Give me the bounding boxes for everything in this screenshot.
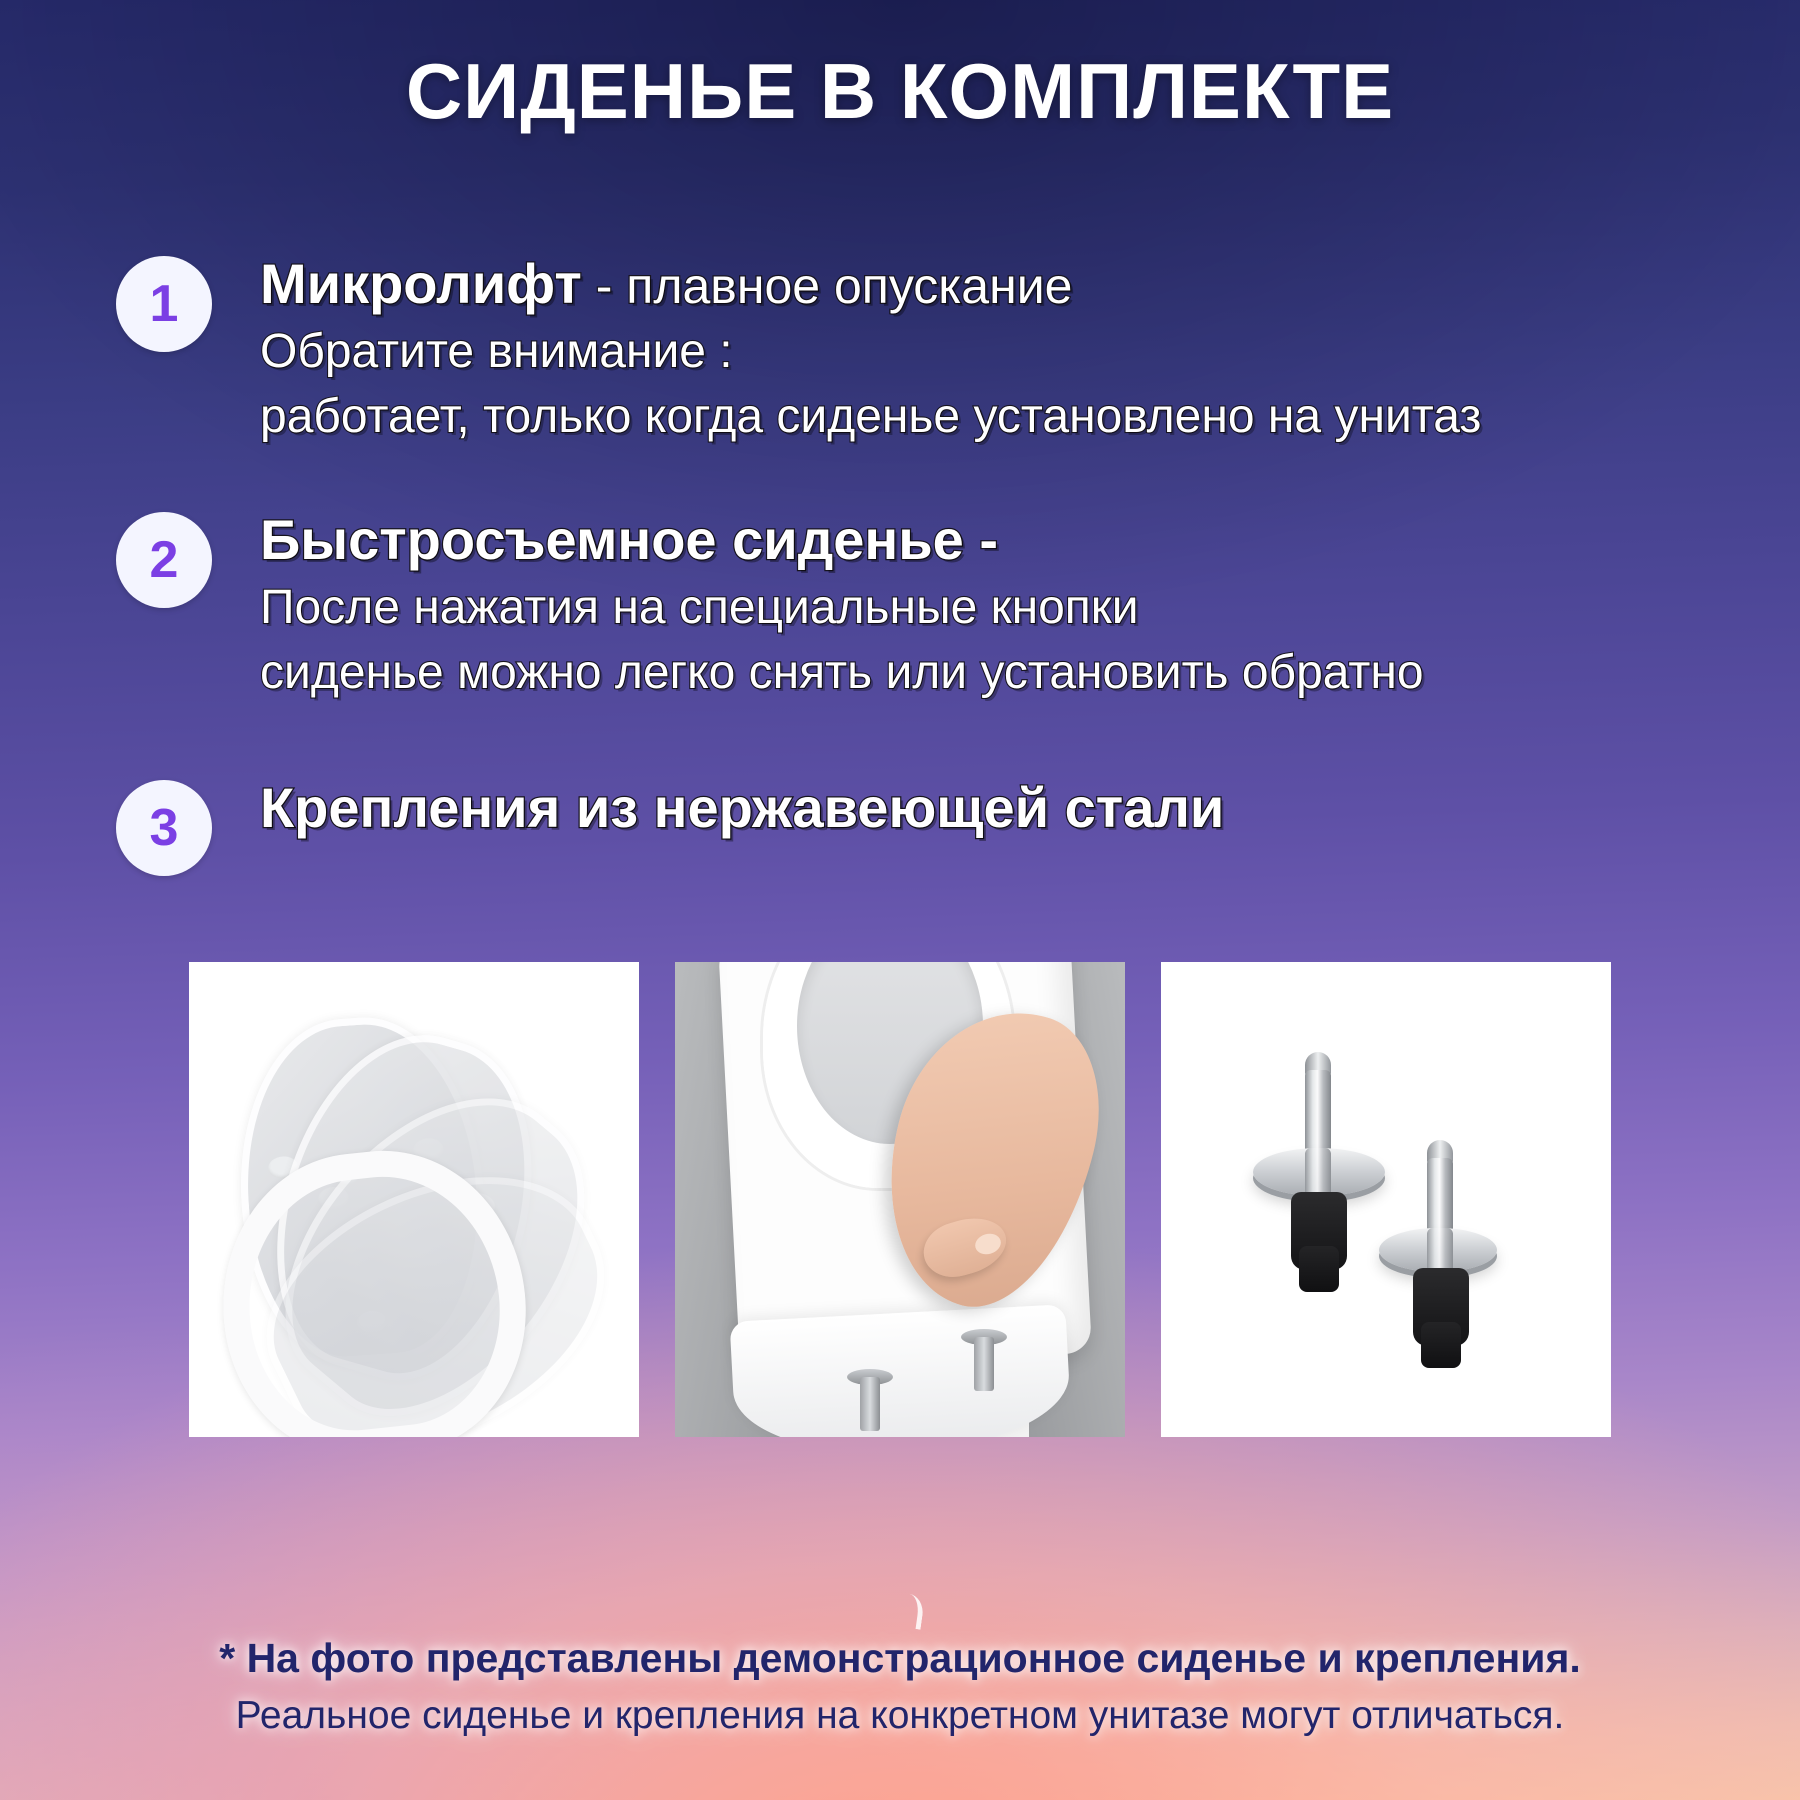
feature-text-1: Микролифт - плавное опускание Обратите в… — [260, 252, 1481, 446]
feature-text-3: Крепления из нержавеющей стали — [260, 776, 1224, 841]
photo-quick-release-press — [675, 962, 1125, 1437]
feature-line-1-2: работает, только когда сиденье установле… — [260, 388, 1481, 447]
fixings-scene — [1161, 962, 1611, 1437]
footer-line-2: Реальное сиденье и крепления на конкретн… — [0, 1691, 1800, 1742]
feature-line-2-1: После нажатия на специальные кнопки — [260, 579, 1424, 638]
feature-line-2-2: сиденье можно легко снять или установить… — [260, 644, 1424, 703]
decorative-swoosh — [894, 1592, 925, 1629]
feature-heading-rest-1: - плавное опускание — [582, 258, 1073, 314]
feature-line-1-1: Обратите внимание : — [260, 323, 1481, 382]
bolt-right — [974, 1337, 994, 1391]
page-title: СИДЕНЬЕ В КОМПЛЕКТЕ — [0, 46, 1800, 137]
feature-item-2: 2 Быстросъемное сиденье - После нажатия … — [0, 508, 1800, 702]
promo-poster: СИДЕНЬЕ В КОМПЛЕКТЕ 1 Микролифт - плавно… — [0, 0, 1800, 1800]
feature-heading-bold-2: Быстросъемное сиденье - — [260, 508, 998, 571]
feature-heading-3: Крепления из нержавеющей стали — [260, 776, 1224, 841]
toilet-pedestal — [730, 1304, 1073, 1437]
feature-heading-bold-1: Микролифт — [260, 252, 582, 315]
footer-note: * На фото представлены демонстрационное … — [0, 1632, 1800, 1742]
feature-number-badge-3: 3 — [116, 780, 212, 876]
bolt-left — [860, 1377, 880, 1431]
seat-lid-motion-illustration — [189, 962, 639, 1437]
feature-heading-1: Микролифт - плавное опускание — [260, 252, 1481, 317]
feature-list: 1 Микролифт - плавное опускание Обратите… — [0, 240, 1800, 876]
bathroom-scene — [675, 962, 1125, 1437]
feature-number-badge-1: 1 — [116, 256, 212, 352]
feature-heading-2: Быстросъемное сиденье - — [260, 508, 1424, 573]
feature-item-1: 1 Микролифт - плавное опускание Обратите… — [0, 252, 1800, 446]
feature-text-2: Быстросъемное сиденье - После нажатия на… — [260, 508, 1424, 702]
photo-soft-close-seat — [189, 962, 639, 1437]
photo-gallery — [0, 962, 1800, 1437]
feature-number-badge-2: 2 — [116, 512, 212, 608]
feature-heading-bold-3: Крепления из нержавеющей стали — [260, 776, 1224, 839]
feature-item-3: 3 Крепления из нержавеющей стали — [0, 776, 1800, 876]
photo-stainless-fixings — [1161, 962, 1611, 1437]
footer-line-1: * На фото представлены демонстрационное … — [0, 1632, 1800, 1685]
